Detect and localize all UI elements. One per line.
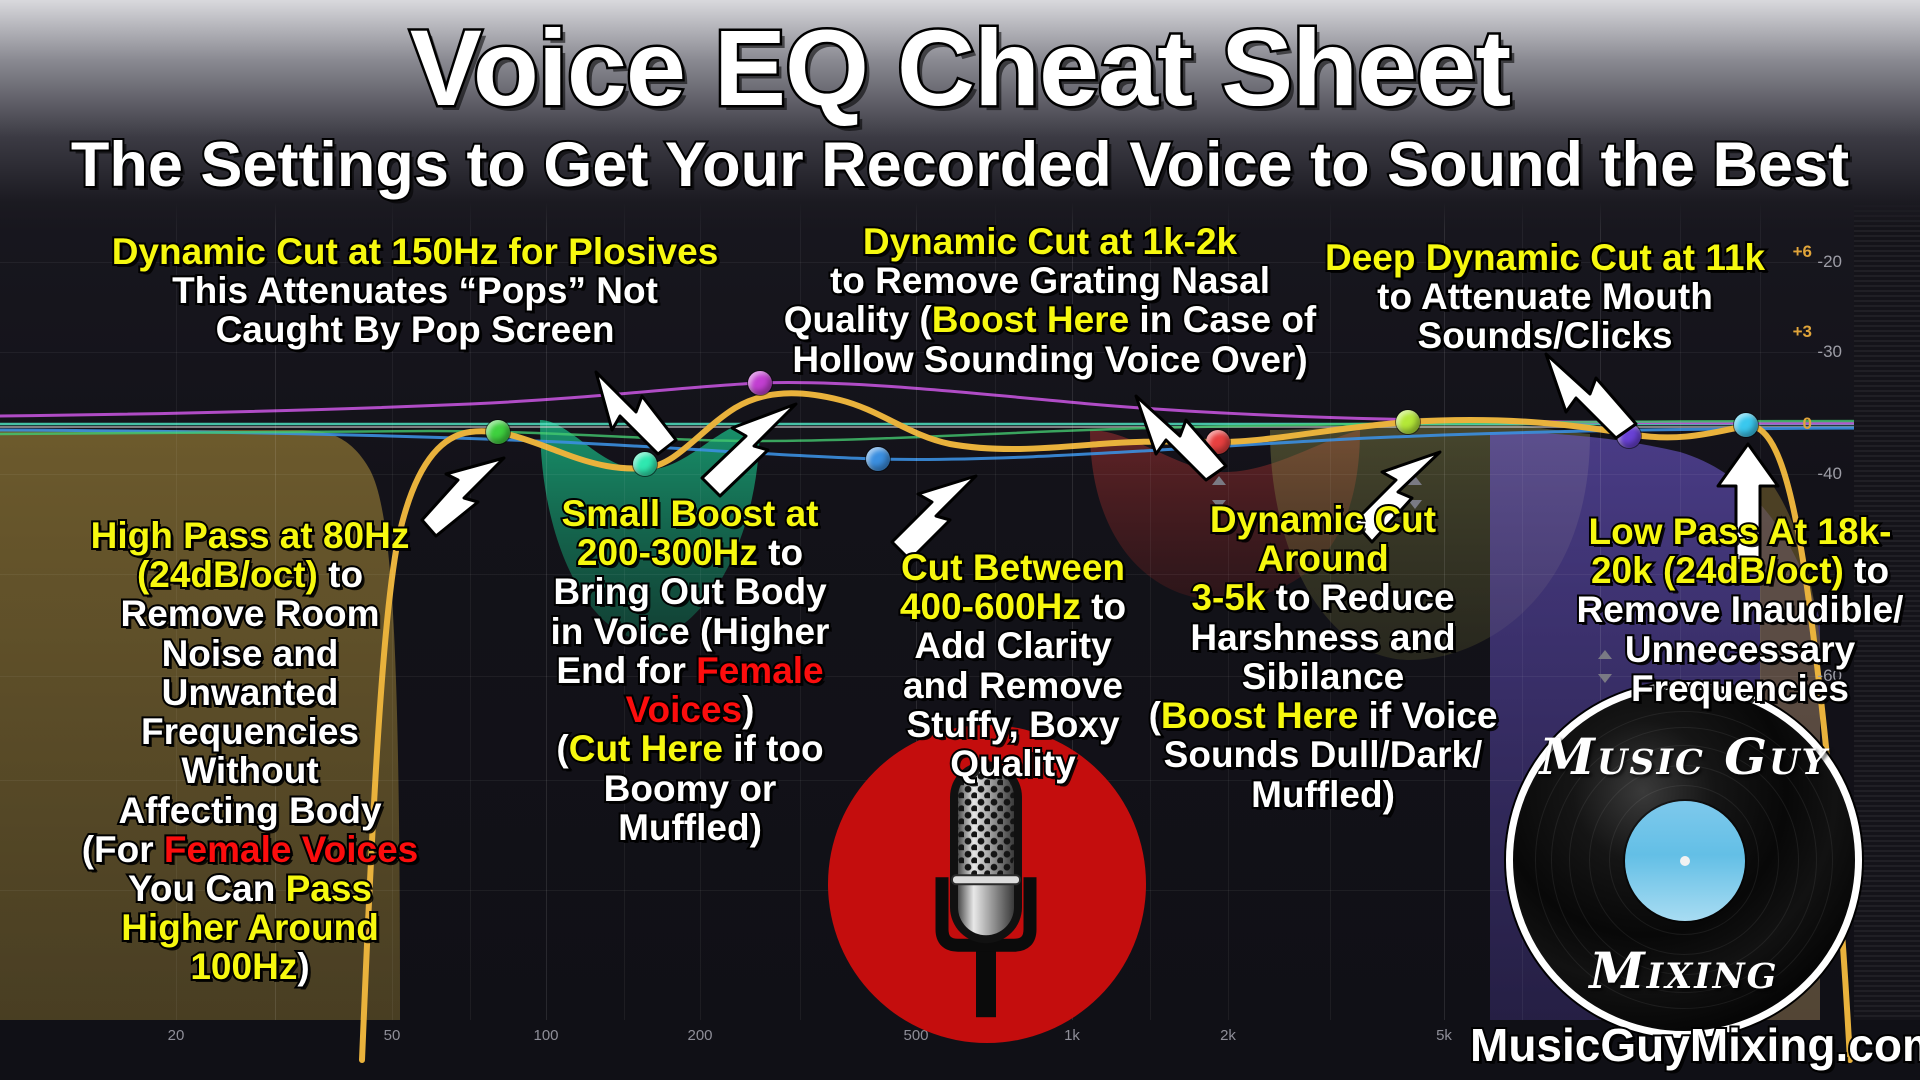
annotation-line: Remove Inaudible/ bbox=[1570, 590, 1910, 629]
annotation-line: Unwanted bbox=[60, 673, 440, 712]
annotation-line: Hollow Sounding Voice Over) bbox=[780, 340, 1320, 379]
annotation-line: Sounds/Clicks bbox=[1310, 316, 1780, 355]
annotation-line: Dynamic Cut Around bbox=[1148, 500, 1498, 578]
freq-tick-2k: 2k bbox=[1220, 1027, 1236, 1044]
annotation-line: Noise and bbox=[60, 634, 440, 673]
annotation-line: Bring Out Body bbox=[540, 572, 840, 611]
annotation-line: 200-300Hz to bbox=[540, 533, 840, 572]
brand-name-top: Music Guy bbox=[1513, 727, 1855, 786]
eq-node-body-boost[interactable] bbox=[748, 371, 772, 395]
arrow-to-body-boost-node bbox=[680, 398, 810, 508]
annotation-line: You Can Pass bbox=[60, 869, 440, 908]
annotation-line: and Remove bbox=[878, 666, 1148, 705]
annotation-line: 400-600Hz to bbox=[878, 587, 1148, 626]
annotation-line: Higher Around bbox=[60, 908, 440, 947]
page-title: Voice EQ Cheat Sheet bbox=[0, 14, 1920, 122]
arrow-to-mouth-click-node bbox=[1540, 348, 1660, 448]
freq-tick-20: 20 bbox=[168, 1027, 185, 1044]
cheat-sheet-infographic: 20 50 100 200 500 1k 2k 5k -10 -20 -30 -… bbox=[0, 0, 1920, 1080]
annotation-line: Affecting Body bbox=[60, 791, 440, 830]
annotation-line: Remove Room bbox=[60, 594, 440, 633]
annotation-line: Sibilance bbox=[1148, 657, 1498, 696]
annotation-line: 20k (24dB/oct) to bbox=[1570, 551, 1910, 590]
annotation-line: Without bbox=[60, 751, 440, 790]
vinyl-record-icon: Music Guy Mixing bbox=[1506, 682, 1862, 1038]
annotation-low-pass-18k-20k: Low Pass At 18k-20k (24dB/oct) toRemove … bbox=[1570, 512, 1910, 708]
freq-tick-100: 100 bbox=[533, 1027, 558, 1044]
annotation-line: High Pass at 80Hz bbox=[60, 516, 440, 555]
vinyl-center-hole bbox=[1680, 856, 1690, 866]
annotation-line: (Boost Here if Voice bbox=[1148, 696, 1498, 735]
annotation-line: Dynamic Cut at 1k-2k bbox=[780, 222, 1320, 261]
db-tick-neg40: -40 bbox=[1817, 464, 1842, 484]
annotation-line: Small Boost at bbox=[540, 494, 840, 533]
annotation-small-boost-200-300hz: Small Boost at200-300Hz toBring Out Body… bbox=[540, 494, 840, 847]
gain-tick-plus3: +3 bbox=[1793, 322, 1812, 342]
annotation-line: to Remove Grating Nasal bbox=[780, 261, 1320, 300]
annotation-cut-400-600hz: Cut Between400-600Hz toAdd Clarityand Re… bbox=[878, 548, 1148, 783]
eq-node-sibilance-cut[interactable] bbox=[1396, 410, 1420, 434]
annotation-high-pass-80hz: High Pass at 80Hz(24dB/oct) toRemove Roo… bbox=[60, 516, 440, 987]
annotation-line: End for Female bbox=[540, 651, 840, 690]
annotation-line: Sounds Dull/Dark/ bbox=[1148, 735, 1498, 774]
brand-logo: Music Guy Mixing MusicGuyMixing.com bbox=[1490, 682, 1880, 1072]
annotation-line: 100Hz) bbox=[60, 947, 440, 986]
page-subtitle: The Settings to Get Your Recorded Voice … bbox=[0, 134, 1920, 197]
freq-tick-5k: 5k bbox=[1436, 1027, 1452, 1044]
db-tick-neg30: -30 bbox=[1817, 342, 1842, 362]
annotation-dynamic-cut-3-5k: Dynamic Cut Around3-5k to ReduceHarshnes… bbox=[1148, 500, 1498, 814]
annotation-line: 3-5k to Reduce bbox=[1148, 578, 1498, 617]
annotation-line: Frequencies bbox=[1570, 669, 1910, 708]
gain-tick-zero: 0 bbox=[1803, 414, 1812, 434]
annotation-line: Cut Between bbox=[878, 548, 1148, 587]
eq-node-low-pass[interactable] bbox=[1734, 413, 1758, 437]
annotation-line: to Attenuate Mouth bbox=[1310, 277, 1780, 316]
annotation-line: Frequencies bbox=[60, 712, 440, 751]
annotation-line: Deep Dynamic Cut at 11k bbox=[1310, 238, 1780, 277]
annotation-line: Voices) bbox=[540, 690, 840, 729]
annotation-line: Low Pass At 18k- bbox=[1570, 512, 1910, 551]
annotation-dynamic-cut-150hz: Dynamic Cut at 150Hz for PlosivesThis At… bbox=[110, 232, 720, 350]
eq-node-high-pass[interactable] bbox=[486, 420, 510, 444]
annotation-deep-dynamic-cut-11k: Deep Dynamic Cut at 11kto Attenuate Mout… bbox=[1310, 238, 1780, 356]
arrow-to-nasal-cut-node bbox=[1130, 390, 1250, 490]
eq-node-boxy-cut[interactable] bbox=[866, 447, 890, 471]
annotation-line: Harshness and bbox=[1148, 618, 1498, 657]
annotation-line: Dynamic Cut at 150Hz for Plosives bbox=[110, 232, 720, 271]
gain-tick-plus6: +6 bbox=[1793, 242, 1812, 262]
microphone-icon bbox=[912, 759, 1062, 1019]
annotation-line: Quality (Boost Here in Case of bbox=[780, 300, 1320, 339]
brand-url[interactable]: MusicGuyMixing.com bbox=[1470, 1018, 1900, 1072]
annotation-line: Boomy or bbox=[540, 769, 840, 808]
annotation-line: (Cut Here if too bbox=[540, 729, 840, 768]
freq-tick-1k: 1k bbox=[1064, 1027, 1080, 1044]
annotation-dynamic-cut-1k-2k: Dynamic Cut at 1k-2kto Remove Grating Na… bbox=[780, 222, 1320, 379]
annotation-line: (For Female Voices bbox=[60, 830, 440, 869]
brand-name-bottom: Mixing bbox=[1513, 941, 1855, 1000]
annotation-line: (24dB/oct) to bbox=[60, 555, 440, 594]
annotation-line: in Voice (Higher bbox=[540, 612, 840, 651]
annotation-line: Quality bbox=[878, 744, 1148, 783]
annotation-line: Stuffy, Boxy bbox=[878, 705, 1148, 744]
annotation-line: Muffled) bbox=[540, 808, 840, 847]
annotation-line: Unnecessary bbox=[1570, 630, 1910, 669]
freq-tick-200: 200 bbox=[687, 1027, 712, 1044]
db-tick-neg20: -20 bbox=[1817, 252, 1842, 272]
annotation-line: Caught By Pop Screen bbox=[110, 310, 720, 349]
annotation-line: Add Clarity bbox=[878, 626, 1148, 665]
annotation-line: Muffled) bbox=[1148, 775, 1498, 814]
annotation-line: This Attenuates “Pops” Not bbox=[110, 271, 720, 310]
freq-tick-50: 50 bbox=[384, 1027, 401, 1044]
